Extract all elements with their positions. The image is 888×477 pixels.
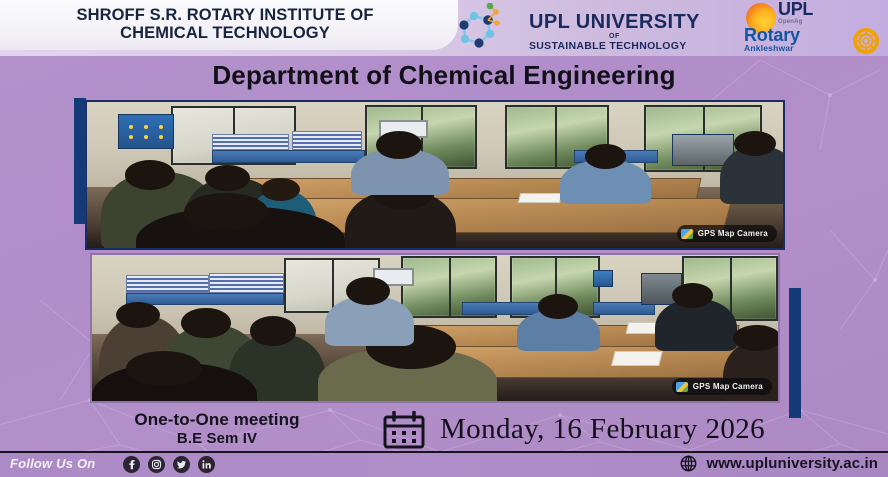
- upl-university-logo: UPL UNIVERSITY OF SUSTAINABLE TECHNOLOGY: [452, 2, 737, 56]
- facebook-glyph: [126, 459, 137, 470]
- photo2-accent-bar: [789, 288, 801, 418]
- follow-us-label: Follow Us On: [10, 456, 95, 471]
- gps-watermark-1: GPS Map Camera: [677, 225, 777, 242]
- hexagon-molecule-icon: [452, 3, 524, 55]
- linkedin-icon[interactable]: [198, 456, 215, 473]
- rotary-upl-logos: UPL OpenAg Rotary Ankleshwar: [738, 0, 884, 56]
- institute-name-line1: SHROFF S.R. ROTARY INSTITUTE OF: [76, 6, 373, 24]
- institute-banner: SHROFF S.R. ROTARY INSTITUTE OF CHEMICAL…: [0, 0, 458, 50]
- website-url: www.upluniversity.ac.in: [706, 455, 878, 472]
- gps-watermark-2: GPS Map Camera: [672, 378, 772, 395]
- twitter-glyph: [176, 459, 187, 470]
- twitter-icon[interactable]: [173, 456, 190, 473]
- website-link[interactable]: www.upluniversity.ac.in: [680, 455, 878, 472]
- poster-footer: Follow Us On: [0, 453, 888, 477]
- event-date: Monday, 16 February 2026: [440, 409, 860, 449]
- linkedin-glyph: [201, 459, 212, 470]
- gps-watermark-label-1: GPS Map Camera: [698, 229, 768, 238]
- facebook-icon[interactable]: [123, 456, 140, 473]
- gps-watermark-label-2: GPS Map Camera: [693, 382, 763, 391]
- photo-meeting-2: GPS Map Camera: [90, 253, 780, 403]
- event-title: One-to-One meeting: [62, 410, 372, 430]
- rotary-club-name: Ankleshwar: [744, 44, 800, 53]
- institute-name-line2: CHEMICAL TECHNOLOGY: [76, 24, 373, 42]
- upl-brand-name: UPL: [778, 0, 813, 18]
- rotary-wheel-icon: [852, 27, 880, 55]
- event-subtitle: B.E Sem IV: [62, 430, 372, 448]
- gps-map-camera-icon: [676, 382, 688, 392]
- gps-map-camera-icon: [681, 229, 693, 239]
- event-info: One-to-One meeting B.E Sem IV: [62, 410, 372, 448]
- instagram-glyph: [151, 459, 162, 470]
- photo-meeting-1: GPS Map Camera: [85, 100, 785, 250]
- university-tagline: SUSTAINABLE TECHNOLOGY: [529, 41, 700, 52]
- instagram-icon[interactable]: [148, 456, 165, 473]
- globe-icon: [680, 455, 697, 472]
- photo1-scene: [87, 102, 783, 248]
- social-links: [123, 456, 215, 473]
- photo1-accent-bar: [74, 98, 86, 224]
- rotary-club-logo: Rotary Ankleshwar: [740, 28, 884, 56]
- rotary-name: Rotary: [744, 26, 800, 44]
- poster-canvas: SHROFF S.R. ROTARY INSTITUTE OF CHEMICAL…: [0, 0, 888, 477]
- calendar-icon: [383, 411, 425, 449]
- university-name: UPL UNIVERSITY: [529, 12, 700, 32]
- page-title: Department of Chemical Engineering: [0, 57, 888, 93]
- poster-header: SHROFF S.R. ROTARY INSTITUTE OF CHEMICAL…: [0, 0, 888, 56]
- university-of: OF: [529, 33, 700, 40]
